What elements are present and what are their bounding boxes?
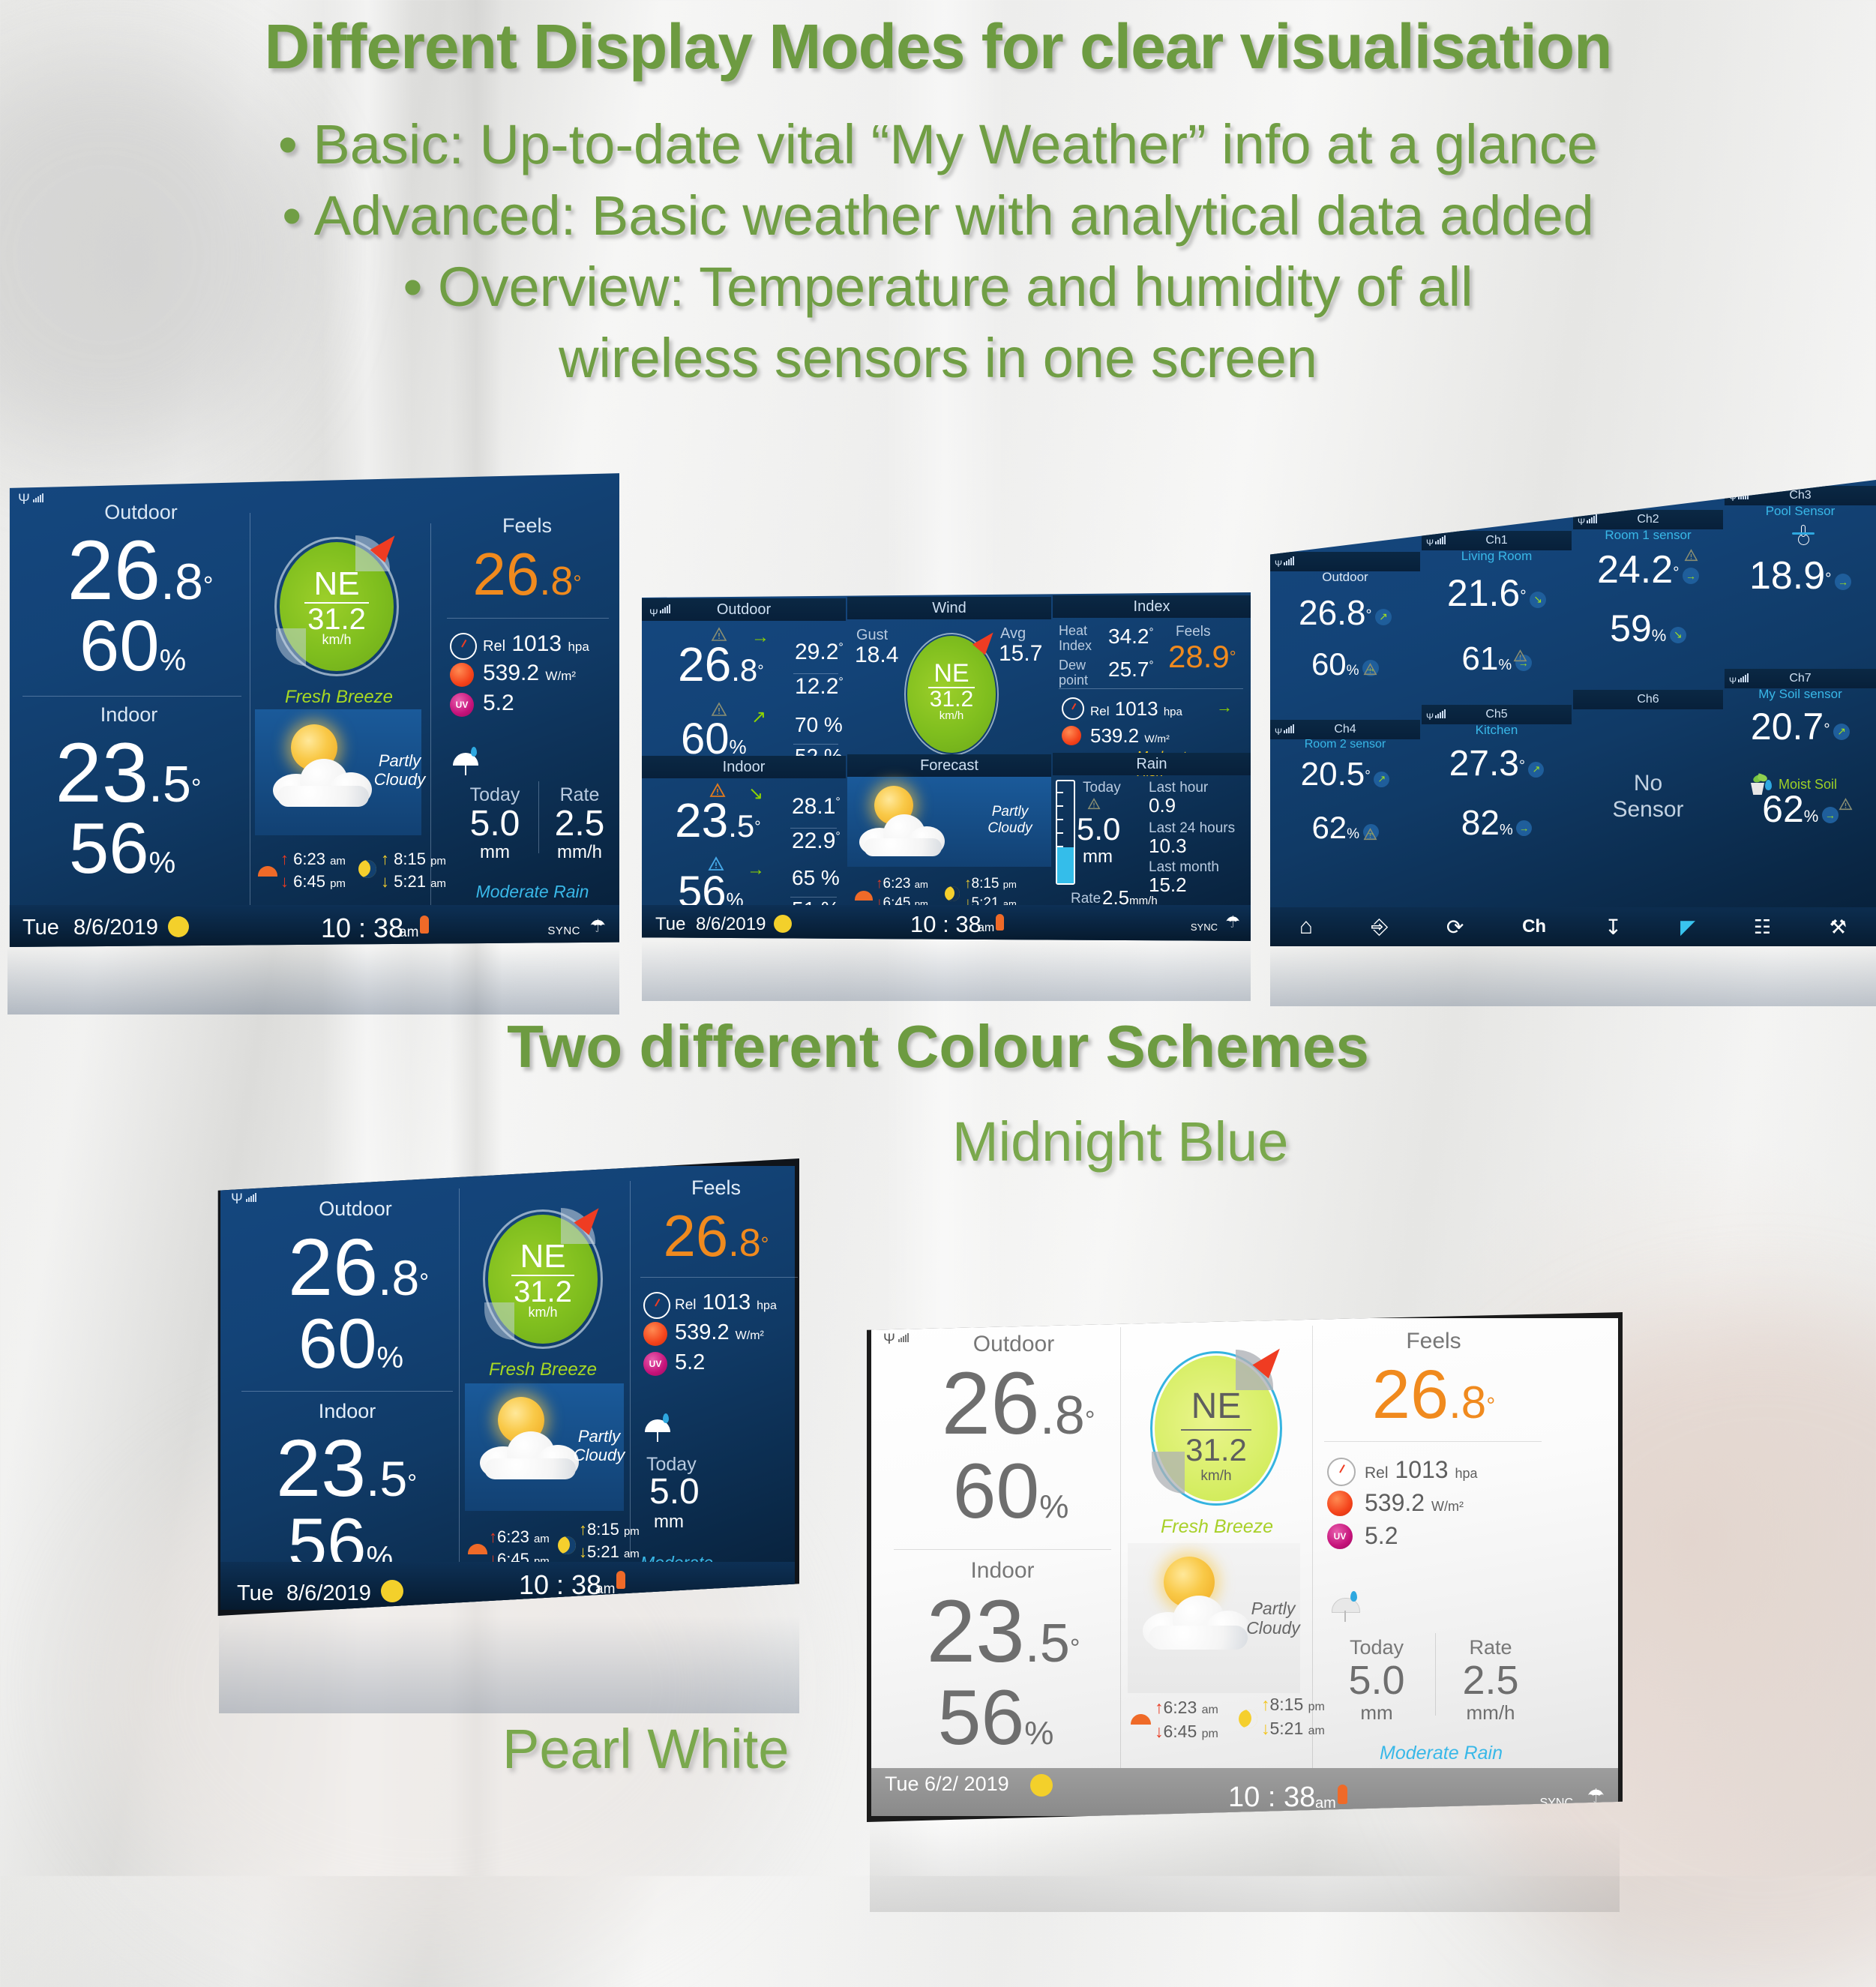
sync-label: SYNC [1191,922,1218,933]
signal-bars-icon [1435,710,1446,718]
indoor-temperature: 23.5° [12,733,244,813]
divider [1312,1326,1313,1776]
moonset-time: ↓ 5:21 am [381,872,446,892]
barometer-reading: Rel 1013 hpa [1090,697,1182,721]
rain-rate-value: 2.5 [1446,1662,1536,1700]
cell-temperature: 20.7° ↗ [1725,709,1876,745]
cell-channel: Ch7 [1789,672,1811,685]
signal-antenna-icon: Ψ [649,601,658,624]
overview-cell-ch7[interactable]: Ψ Ch7 My Soil sensor 20.7° ↗ Moist Soil … [1725,669,1876,889]
channel-button[interactable]: Ch [1522,916,1546,937]
signal-antenna-icon: Ψ [1275,554,1282,574]
uv-reading: 5.2 [1365,1522,1398,1550]
status-meridiem: am [399,925,418,941]
outdoor-temperature: 26.8° [246,1229,471,1306]
feels-int: 26 [472,541,539,607]
solar-radiation-icon [1062,726,1081,745]
cell-temperature: 27.3° ↗ [1422,747,1572,781]
cell-humidity: 82% → [1422,807,1572,840]
status-date: 8/6/2019 [286,1581,371,1606]
cell-channel: Ch6 [1637,693,1659,706]
alarm-icon [996,914,1004,931]
solar-radiation-icon [450,663,474,687]
baro-unit: hpa [568,640,589,654]
section-header-indoor: Indoor [642,756,846,778]
status-day: Tue [655,914,685,935]
heat-index-label: Heat Index [1059,624,1104,654]
cell-temperature: 26.8° ↗ [1270,597,1420,630]
indoor-temperature: 23.5° [675,798,761,844]
adv-outdoor-hum-unit: % [730,736,747,758]
feels-temperature: 26.8° [637,1202,795,1270]
indoor-label: Indoor [238,1400,456,1423]
rain-description: Moderate Rain [450,882,615,902]
label-midnight-blue: Midnight Blue [952,1110,1288,1173]
bottom-nav-bar[interactable]: ⌂ ⎆ ⟳ Ch ↧ ◤ ☷ ⚒ [1270,907,1876,946]
cell-humidity: 59% ↘ [1573,611,1723,647]
rain-gauge-icon [1056,780,1075,885]
alert-triangle-icon [1684,549,1698,562]
bullet-list: • Basic: Up-to-date vital “My Weather” i… [0,105,1876,397]
rain-today-value: 5.0 [649,1475,700,1509]
moon-icon [945,886,960,901]
moon-phase-icon [774,915,792,933]
solar-value: 539.2 [483,661,539,685]
alert-triangle-icon [1363,663,1377,676]
device-midnight-blue[interactable]: Ψ Outdoor 26.8° 60% Indoor 23.5° 56% NE [214,1158,799,1616]
indoor-humidity: 56% [6,814,238,883]
cell-channel: Ch5 [1485,708,1507,721]
outdoor-hum-trend-icon: ↗ [751,706,766,728]
wind-dial: NE 31.2 km/h [1150,1351,1282,1506]
wind-speed-unit: km/h [483,1306,603,1319]
settings-icon[interactable]: ⚒ [1830,916,1847,939]
sync-label: SYNC [1540,1797,1573,1810]
feels-value: 28.9° [1168,639,1236,675]
refresh-icon[interactable]: ⟳ [1446,915,1464,940]
rain-today-unit: mm [654,1514,684,1531]
wind-speed: 31.2 [483,1278,603,1306]
baro-trend-icon: → [1216,697,1233,717]
solar-radiation-icon [643,1322,667,1346]
outdoor-temp-int: 26 [67,523,161,617]
alarm-icon [1338,1785,1347,1804]
uv-value: 5.2 [483,691,514,715]
cell-temperature: 20.5° ↗ [1270,759,1420,790]
bullet-item: wireless sensors in one screen [0,326,1876,390]
rain-last24-value: 10.3 [1149,837,1187,856]
indoor-hum-unit: % [149,847,176,880]
sun-icon [1131,1714,1151,1725]
status-meridiem: am [978,922,994,935]
signal-bars-icon [1435,536,1446,544]
label-pearl-white: Pearl White [502,1717,789,1781]
rain-rate-label: Rate [544,784,615,806]
wind-description: Fresh Breeze [261,687,417,708]
section-title-colour-schemes: Two different Colour Schemes [0,1012,1876,1081]
device-reflection [642,941,1251,1001]
sunrise-time: ↑ 6:23 am [280,850,346,869]
solar-radiation-icon [1327,1491,1353,1516]
solar-unit: W/m² [545,669,576,683]
status-time: 10 : 38 [519,1569,601,1601]
cell-humidity: 61% → [1422,643,1572,675]
device-reflection [7,947,619,1014]
rain-today-label: Today [456,784,534,806]
rain-today-value: 5.0 [456,807,534,841]
adv-indoor-temp-degree: ° [754,819,760,836]
cell-humidity: 62% → [1270,813,1420,843]
outdoor-humidity: 60% [16,612,249,680]
section-header-outdoor: Ψ Outdoor [642,598,846,621]
rain-today-unit: mm [456,844,534,862]
bullet-item: • Overview: Temperature and humidity of … [0,255,1876,319]
indoor-temp-dec: .5 [148,756,191,813]
signal-antenna-icon: Ψ [1426,707,1434,727]
rain-rate-unit: mm/h [544,844,615,862]
wind-gust-label: Gust [856,627,888,644]
rain-today-unit: mm [1332,1704,1422,1722]
status-meridiem: am [1315,1795,1336,1812]
bullet-item: • Advanced: Basic weather with analytica… [0,184,1876,247]
outdoor-temperature: 26.8° [906,1362,1131,1446]
outdoor-temp-high: 29.2° [795,642,844,664]
outdoor-hum-high: 70 % [795,715,843,736]
wind-gust-value: 18.4 [855,645,898,667]
rain-today-unit: mm [1083,849,1113,866]
signal-bars-icon [1284,557,1294,565]
moonrise-time: ↑8:15 pm [964,876,1017,892]
status-bar: Tue 8/6/2019 10 : 38 am SYNC ☂ [642,905,1251,941]
sun-icon [855,891,873,901]
cell-humidity: 62% → [1725,792,1876,828]
outdoor-temp-dec: .8 [160,553,203,610]
overview-cell-ch5[interactable]: Ψ Ch5 Kitchen 27.3° ↗ 82% → [1422,705,1572,889]
divider [250,513,250,910]
indoor-temperature: 23.5° [891,1590,1116,1674]
baro-value: 1013 [511,631,562,656]
rain-today-label: Today [1083,780,1121,796]
outdoor-temp-degree: ° [203,572,214,601]
forecast-description: Partly Cloudy [571,1427,627,1465]
uv-badge-label: UV [456,700,469,710]
sun-icon [258,866,277,877]
outdoor-label: Outdoor [258,1197,453,1221]
alarm-icon [420,916,429,934]
alert-triangle-icon [1363,828,1377,841]
indoor-hum-high: 65 % [792,868,840,889]
cell-header: Ψ Ch5 [1422,705,1572,724]
feels-temperature: 26.8° [441,540,613,609]
cell-header: Ψ Ch7 [1725,669,1876,688]
moonrise-time: ↑ 8:15 pm [381,850,446,869]
cell-temperature: 18.9° → [1725,558,1876,595]
feels-label: Feels [1321,1329,1546,1354]
moon-phase-icon [168,916,189,937]
home-icon[interactable]: ⌂ [1299,914,1313,940]
cell-temperature: 21.6° ↘ [1422,576,1572,612]
alert-triangle-icon [1513,649,1527,662]
outdoor-temperature: 26.8° [678,642,764,688]
signal-antenna-icon: Ψ [18,492,30,508]
barometer-icon [450,633,477,660]
cell-temperature: 24.2° → [1573,552,1723,589]
adv-indoor-temp-dec: .5 [728,808,754,844]
feels-dec: .8 [539,559,573,604]
rain-today-value: 5.0 [1332,1662,1422,1700]
rain-description: Moderate Rain [1329,1743,1554,1764]
plant-pot-icon [1747,774,1771,796]
hum-trend-icon: → [1516,820,1532,836]
feels-label: Feels [441,514,613,538]
barometer-icon [1327,1458,1356,1486]
section-header-rain: Rain [1053,753,1251,775]
hum-trend-icon: ↘ [1670,627,1686,643]
status-bar: Tue 8/6/2019 10 : 38 am SYNC ☂ [6,905,619,947]
wind-speed-unit: km/h [904,711,999,721]
wifi-icon: ☂ [1225,913,1240,932]
feels-label: Feels [637,1176,795,1200]
signal-bars-icon [246,1191,256,1202]
wind-speed-unit: km/h [1150,1468,1282,1485]
indoor-label: Indoor [894,1558,1111,1584]
divider [1059,688,1243,689]
cell-header: Ψ Ch4 [1270,720,1420,739]
rain-rate-label: Rate [1446,1636,1536,1659]
signal-antenna-icon: Ψ [1729,488,1737,508]
barometer-icon [1062,697,1084,720]
wind-avg-label: Avg [1000,625,1026,643]
records-icon[interactable]: ⎆ [1371,915,1388,940]
divider [1435,1633,1436,1716]
signal-antenna-icon: Ψ [1275,722,1282,742]
wind-speed: 31.2 [904,689,999,711]
section-header-forecast: Forecast [847,754,1051,777]
rain-today-value: 5.0 [1077,814,1120,844]
adv-outdoor-temp-degree: ° [757,663,763,680]
outdoor-temp-low: 12.2° [795,676,844,698]
device-pearl-white[interactable]: Ψ Outdoor 26.8° 60% Indoor 23.5° 56% NE [867,1312,1623,1822]
barometer-reading: Rel 1013 hpa [675,1290,777,1315]
device-reflection [219,1616,799,1713]
adv-indoor-temp-int: 23 [675,793,728,847]
wind-description: Fresh Breeze [1144,1516,1290,1538]
device-advanced-mode[interactable]: Ψ Outdoor Wind Index → 26.8° 29.2° 12.2°… [642,592,1251,941]
solar-reading: 539.2 W/m² [1090,724,1170,748]
adv-outdoor-temp-int: 26 [678,637,731,691]
page-title: Different Display Modes for clear visual… [0,10,1876,83]
device-reflection [870,1822,1620,1912]
wind-speed: 31.2 [1150,1432,1282,1468]
status-date: 8/6/2019 [73,916,158,940]
sync-label: SYNC [547,925,580,937]
soil-status-label: Moist Soil [1779,777,1837,793]
moonset-time: ↓5:21 am [1261,1719,1325,1739]
divider [640,1277,798,1278]
status-bar: Tue 8/6/2019 10 : 38 am [220,1562,795,1610]
overview-cell-outdoor[interactable]: Ψ Outdoor 26.8° ↗ 60% → [1270,552,1420,718]
divider [459,1188,460,1578]
indoor-temp-int: 23 [55,726,149,820]
cell-header: Ψ Ch3 [1725,486,1876,505]
divider [1120,1327,1121,1777]
moon-phase-icon [381,1580,403,1602]
device-reflection [1270,946,1876,1006]
alert-triangle-icon [1087,798,1101,810]
moon-phase-icon [1030,1774,1053,1797]
partly-cloudy-icon [1138,1549,1258,1660]
divider [241,1391,453,1392]
indoor-temperature: 23.5° [234,1430,459,1507]
rain-today-label: Today [1332,1636,1422,1659]
status-time: 10 : 38 [910,911,981,938]
calendar-icon[interactable]: ☷ [1754,916,1771,939]
cell-channel: Ch1 [1485,534,1507,547]
signal-bars-icon [1587,515,1597,523]
indoor-temp-degree: ° [191,775,202,803]
sunrise-time: ↑6:23 am [876,876,928,892]
section-header-index: Index [1053,595,1251,618]
cell-channel: Ch3 [1789,489,1811,502]
cell-channel: Ch4 [1334,723,1356,736]
outdoor-label: Outdoor [36,501,246,524]
cell-header: Ψ [1270,552,1420,571]
signal-bars-icon [1738,674,1749,682]
signal-antenna-icon: Ψ [1426,533,1434,553]
wifi-icon: ☂ [589,916,606,937]
alarm-icon [616,1571,625,1589]
signal-bars-icon [1738,491,1749,499]
wind-speed-unit: km/h [274,634,399,646]
umbrella-icon [1332,1591,1359,1615]
divider [1324,1441,1542,1442]
cell-name: Room 2 sensor [1270,738,1420,751]
temp-trend-icon: → [1835,574,1851,590]
indoor-hum-value: 56 [69,808,149,889]
cell-name: Living Room [1422,549,1572,564]
feels-label: Feels [1176,624,1210,640]
hum-trend-icon: → [1822,807,1839,823]
outdoor-hum-unit: % [160,644,187,677]
baro-rel-label: Rel [483,638,505,655]
divider [894,1549,1111,1550]
status-day: Tue [237,1581,274,1606]
overview-cell-ch1[interactable]: Ψ Ch1 Living Room 21.6° ↘ 61% → [1422,531,1572,718]
solar-reading: 539.2 W/m² [1365,1489,1464,1517]
uv-reading: 5.2 [483,691,514,716]
cell-header: Ψ Ch1 [1422,531,1572,550]
cell-name: Room 1 sensor [1573,528,1723,543]
cell-name: Outdoor [1270,570,1420,585]
umbrella-icon [645,1413,670,1436]
overview-cell-ch2[interactable]: Ψ Ch2 Room 1 sensor 24.2° → 59% ↘ [1573,510,1723,718]
signal-antenna-icon: Ψ [883,1332,895,1348]
dew-point-value: 25.7° [1108,660,1154,680]
sunrise-time: ↑6:23 am [489,1527,550,1547]
status-meridiem: am [595,1581,615,1598]
status-time: 10 : 38 [321,913,403,944]
status-date: Tue 6/2/ 2019 [885,1773,1009,1796]
bullet-item: • Basic: Up-to-date vital “My Weather” i… [0,112,1876,176]
overview-cell-ch4[interactable]: Ψ Ch4 Room 2 sensor 20.5° ↗ 62% → [1270,720,1420,889]
indoor-temp-low: 22.9° [792,831,841,853]
temp-trend-icon: ↗ [1375,609,1392,625]
status-day: Tue [22,916,59,940]
moon-icon [558,1536,576,1554]
status-bar: Tue 6/2/ 2019 10 : 38 am SYNC ☂ [871,1768,1618,1816]
moon-icon [358,860,376,878]
signal-bars-icon [660,604,670,613]
outdoor-humidity: 60% [681,718,747,760]
uv-index-icon: UV [1327,1524,1353,1549]
solar-reading: 539.2 W/m² [675,1320,764,1345]
outdoor-humidity: 60% [898,1455,1123,1529]
rain-rate-unit: mm/h [1446,1704,1536,1722]
alert-triangle-icon [1839,798,1853,811]
signal-bars-icon [1284,725,1294,733]
cell-humidity: 60% → [1270,649,1420,679]
cell-name: Kitchen [1422,723,1572,738]
rain-rate-value: 2.5 [544,807,615,841]
divider [447,618,609,619]
barometer-reading: Rel 1013 hpa [1365,1456,1478,1484]
temp-trend-icon: ↗ [1374,772,1389,787]
temp-trend-icon: → [1683,568,1699,584]
signal-antenna-icon: Ψ [1729,671,1737,691]
divider [630,1181,631,1556]
forecast-description: Partly Cloudy [1243,1599,1303,1638]
forecast-description: Partly Cloudy [976,804,1044,837]
feels-temperature: 26.8° [1321,1356,1546,1434]
cell-empty-state: No Sensor [1573,771,1723,823]
cell-channel: Ch2 [1637,513,1659,526]
indoor-hum-trend-icon: → [747,859,765,880]
moon-icon [1239,1710,1257,1728]
sunrise-time: ↑6:23 am [1155,1698,1218,1718]
indoor-humidity: 56% [883,1681,1108,1755]
sun-icon [468,1544,487,1554]
wifi-icon: ☂ [1587,1785,1605,1808]
status-time: 10 : 38 [1228,1782,1315,1814]
uv-reading: 5.2 [675,1350,705,1375]
overview-cell-ch6[interactable]: Ch6 No Sensor [1573,690,1723,889]
moonrise-time: ↑8:15 pm [1261,1695,1325,1715]
device-overview-mode[interactable]: Ψ Outdoor 26.8° ↗ 60% → Ψ Ch1 Living Roo… [1270,480,1876,946]
device-basic-mode[interactable]: Ψ Outdoor 26.8° 60% Indoor 23.5° 56% NE [6,471,619,947]
signal-antenna-icon: Ψ [231,1191,243,1208]
partly-cloudy-icon [856,781,951,862]
barometer-reading: Rel 1013 hpa [483,631,589,657]
heat-index-value: 34.2° [1108,627,1154,647]
forecast-description: Partly Cloudy [373,751,426,790]
outdoor-label: Outdoor [916,1332,1111,1357]
sunset-time: ↓6:45 pm [1155,1722,1218,1742]
wind-speed: 31.2 [274,605,399,634]
wind-description: Fresh Breeze [469,1359,616,1380]
partly-cloudy-icon [267,718,379,816]
outdoor-humidity: 60% [238,1310,463,1377]
indoor-temp-high: 28.1° [792,796,841,818]
uv-index-icon: UV [643,1352,667,1376]
temp-trend-icon: ↘ [1530,592,1546,608]
signal-antenna-icon: Ψ [1578,512,1585,532]
adv-outdoor-temp-dec: .8 [731,652,757,688]
section-header-wind: Wind [847,597,1051,619]
divider [22,696,241,697]
minmax-icon[interactable]: ↧ [1605,915,1622,940]
outdoor-hum-value: 60 [79,606,160,686]
graph-icon[interactable]: ◤ [1680,916,1695,939]
